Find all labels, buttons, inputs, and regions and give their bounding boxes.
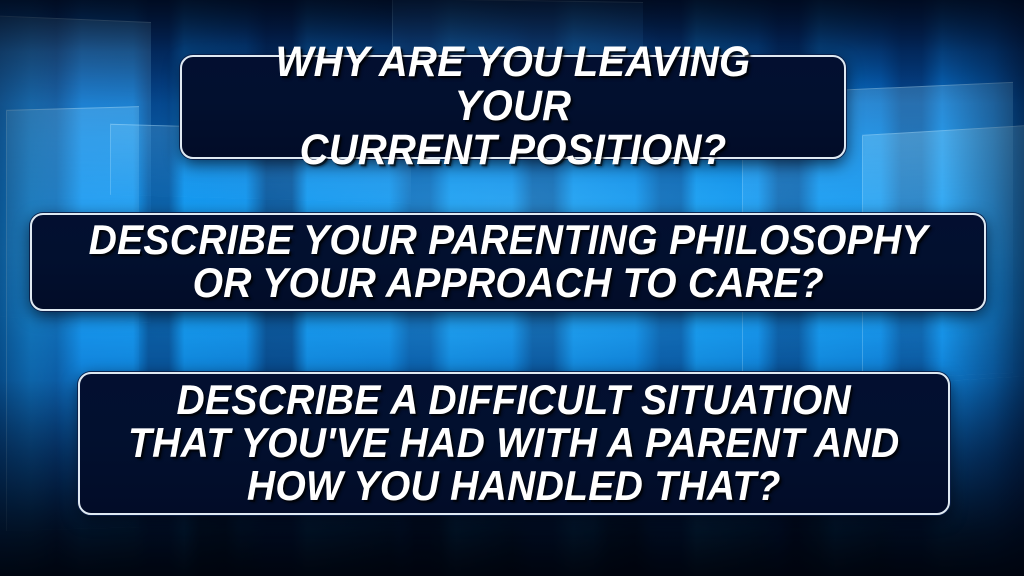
question-banner-1[interactable]: WHY ARE YOU LEAVING YOUR CURRENT POSITIO… <box>180 55 846 159</box>
slide-stage: WHY ARE YOU LEAVING YOUR CURRENT POSITIO… <box>0 0 1024 576</box>
question-banner-2[interactable]: DESCRIBE YOUR PARENTING PHILOSOPHY OR YO… <box>30 213 986 311</box>
question-banner-3-text: DESCRIBE A DIFFICULT SITUATION THAT YOU'… <box>128 379 899 507</box>
question-banner-2-text: DESCRIBE YOUR PARENTING PHILOSOPHY OR YO… <box>88 219 927 305</box>
question-banner-3[interactable]: DESCRIBE A DIFFICULT SITUATION THAT YOU'… <box>78 372 950 515</box>
question-banner-1-text: WHY ARE YOU LEAVING YOUR CURRENT POSITIO… <box>218 41 808 173</box>
